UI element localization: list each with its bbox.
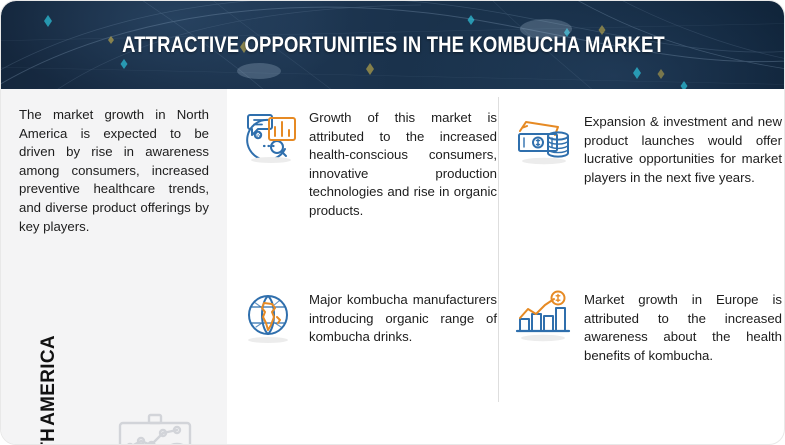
card-market-growth: % Growth of this market is attributed to… [239,105,497,221]
card-text-expansion-investment: Expansion & investment and new product l… [584,109,782,187]
bar-chart-growth-dollar-icon [514,287,574,347]
region-label-line2: AMERICA [38,335,59,426]
card-text-europe-growth: Market growth in Europe is attributed to… [584,287,782,365]
card-europe-growth: Market growth in Europe is attributed to… [514,287,782,365]
card-text-organic-range: Major kombucha manufacturers introducing… [309,287,497,347]
money-cash-coins-icon [514,109,574,169]
globe-icon [239,287,299,347]
presentation-chart-magnifier-icon [105,411,205,445]
infographic-root: ATTRACTIVE OPPORTUNITIES IN THE KOMBUCHA… [0,0,785,445]
left-panel-paragraph: The market growth in North America is ex… [19,106,209,236]
page-title: ATTRACTIVE OPPORTUNITIES IN THE KOMBUCHA… [72,1,716,89]
header-banner: ATTRACTIVE OPPORTUNITIES IN THE KOMBUCHA… [1,1,785,89]
card-organic-range: Major kombucha manufacturers introducing… [239,287,497,347]
card-text-market-growth: Growth of this market is attributed to t… [309,105,497,221]
region-label: NORTH AMERICA [38,351,82,445]
pie-chart-bar-magnifier-icon: % [239,105,299,165]
region-label-line1: NORTH [38,428,59,445]
left-region-panel: The market growth in North America is ex… [1,89,227,445]
column-divider [498,97,499,402]
card-expansion-investment: Expansion & investment and new product l… [514,109,782,187]
